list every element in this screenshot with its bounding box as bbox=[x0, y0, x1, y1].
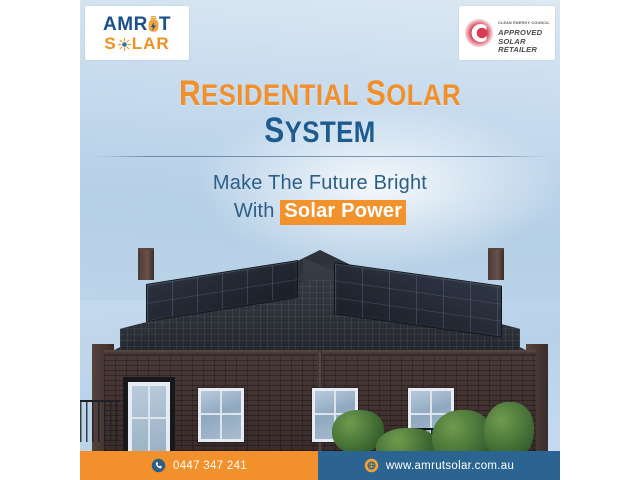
sun-icon bbox=[118, 37, 131, 50]
contact-footer: 0447 347 241 www.amrutsolar.com.au bbox=[80, 451, 560, 480]
fence-left bbox=[80, 400, 120, 442]
cec-line-retailer: RETAILER bbox=[498, 46, 550, 55]
cec-c-mark-icon bbox=[464, 18, 494, 48]
amrut-solar-logo[interactable]: AMR T S bbox=[85, 6, 189, 60]
subheadline-line-1: Make The Future Bright bbox=[80, 172, 560, 195]
subheadline: Make The Future Bright With Solar Power bbox=[80, 172, 560, 225]
globe-icon bbox=[364, 458, 379, 473]
logo-text-t: T bbox=[159, 15, 171, 34]
window-1 bbox=[198, 388, 244, 442]
solar-promo-poster: AMR T S bbox=[80, 0, 560, 480]
logo-text-s: S bbox=[104, 35, 116, 52]
phone-icon bbox=[151, 458, 166, 473]
solar-power-highlight: Solar Power bbox=[280, 200, 406, 225]
cec-org-name: CLEAN ENERGY COUNCIL bbox=[498, 21, 550, 25]
logo-text-lar: LAR bbox=[132, 35, 170, 52]
logo-wordmark-bottom: S LAR bbox=[104, 35, 169, 52]
logo-text-amr: AMR bbox=[103, 15, 148, 34]
website-contact-bar[interactable]: www.amrutsolar.com.au bbox=[318, 451, 560, 480]
roof bbox=[80, 232, 560, 354]
cec-badge-text: CLEAN ENERGY COUNCIL APPROVED SOLAR RETA… bbox=[498, 11, 550, 54]
chimney-right bbox=[488, 248, 504, 280]
subheadline-prefix: With bbox=[234, 200, 275, 222]
chimney-left bbox=[138, 248, 154, 280]
website-url: www.amrutsolar.com.au bbox=[386, 460, 514, 472]
headline-line-2: SYSTEM bbox=[114, 113, 527, 149]
headline-line-1: RESIDENTIAL SOLAR bbox=[114, 76, 527, 112]
cec-approved-retailer-badge[interactable]: CLEAN ENERGY COUNCIL APPROVED SOLAR RETA… bbox=[459, 6, 555, 60]
house-photo bbox=[80, 232, 560, 480]
headline-divider bbox=[94, 156, 546, 157]
headline: RESIDENTIAL SOLAR SYSTEM bbox=[80, 76, 560, 148]
logo-wordmark-top: AMR T bbox=[103, 15, 171, 34]
lightbulb-icon bbox=[148, 16, 159, 33]
subheadline-line-2: With Solar Power bbox=[80, 200, 560, 225]
phone-contact-bar[interactable]: 0447 347 241 bbox=[80, 451, 318, 480]
phone-number: 0447 347 241 bbox=[173, 460, 247, 472]
